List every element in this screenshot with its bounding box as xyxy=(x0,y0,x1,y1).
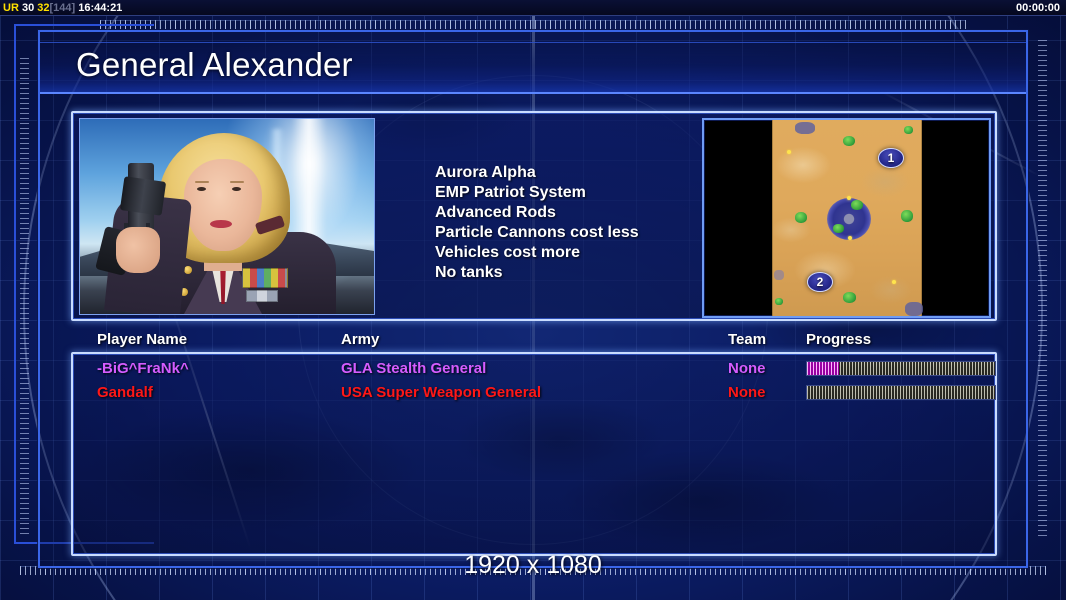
ruler-top xyxy=(100,20,966,29)
ability-item: Aurora Alpha xyxy=(435,163,639,183)
minimap-supply xyxy=(847,196,851,200)
ruler-left xyxy=(20,58,29,536)
minimap-rock xyxy=(774,270,784,280)
player-name: Gandalf xyxy=(97,384,153,401)
minimap-rock xyxy=(905,302,923,316)
game-timer: 00:00:00 xyxy=(1016,0,1060,16)
column-header-progress: Progress xyxy=(806,331,871,348)
network-value-b: 32 xyxy=(37,2,49,14)
ability-item: Particle Cannons cost less xyxy=(435,223,639,243)
minimap-vegetation xyxy=(843,136,855,146)
portrait-eye-left xyxy=(197,187,206,191)
minimap-supply xyxy=(892,280,896,284)
minimap-vegetation xyxy=(833,224,844,233)
player-name: -BiG^FraNk^ xyxy=(97,360,189,377)
pistol-slide-icon xyxy=(120,176,166,216)
column-header-player-name: Player Name xyxy=(97,331,187,348)
portrait-button-upper xyxy=(184,266,192,274)
game-screen: UR 30 32[144] 16:44:21 00:00:00 General … xyxy=(0,0,1066,600)
minimap-supply xyxy=(848,236,852,240)
minimap-vegetation xyxy=(843,292,856,303)
minimap-vegetation xyxy=(851,200,863,210)
status-bar-left: UR 30 32[144] 16:44:21 xyxy=(3,0,122,16)
portrait-hand xyxy=(116,227,160,273)
frame-line-left xyxy=(14,24,16,544)
general-ability-list: Aurora Alpha EMP Patriot System Advanced… xyxy=(435,163,639,283)
player-progress-bar xyxy=(806,361,996,376)
column-header-team: Team xyxy=(728,331,766,348)
resolution-label: 1920 x 1080 xyxy=(0,551,1066,580)
portrait-lips xyxy=(210,220,232,228)
network-bracket-value: [144] xyxy=(50,2,76,14)
system-clock: 16:44:21 xyxy=(78,2,122,14)
portrait-medal-ribbons xyxy=(242,268,288,288)
ability-item: Advanced Rods xyxy=(435,203,639,223)
status-bar: UR 30 32[144] 16:44:21 00:00:00 xyxy=(0,0,1066,16)
portrait-eye-right xyxy=(232,187,241,191)
minimap-vegetation xyxy=(904,126,913,134)
minimap-vegetation xyxy=(795,212,807,223)
minimap-rock xyxy=(795,122,815,134)
minimap-start-position-2: 2 xyxy=(807,272,833,292)
minimap-vegetation xyxy=(901,210,913,222)
player-list-panel: Player Name Army Team Progress -BiG^FraN… xyxy=(71,352,997,556)
player-list-headers: Player Name Army Team Progress xyxy=(73,331,999,354)
player-army: GLA Stealth General xyxy=(341,360,486,377)
network-label: UR xyxy=(3,2,19,14)
ability-item: Vehicles cost more xyxy=(435,243,639,263)
minimap-center-oasis xyxy=(827,198,871,240)
general-portrait xyxy=(79,118,375,315)
network-value-a: 30 xyxy=(22,2,34,14)
player-progress-bar xyxy=(806,385,996,400)
portrait-medal-badge xyxy=(246,290,278,302)
portrait-eyebrow-right xyxy=(230,181,244,183)
loading-window: General Alexander xyxy=(38,30,1028,568)
portrait-eyebrow-left xyxy=(195,181,209,183)
minimap-supply xyxy=(787,150,791,154)
player-team: None xyxy=(728,384,766,401)
progress-track xyxy=(807,386,995,399)
minimap-frame: 1 2 xyxy=(702,118,991,318)
table-row: Gandalf USA Super Weapon General None xyxy=(73,382,999,406)
ability-item: EMP Patriot System xyxy=(435,183,639,203)
player-army: USA Super Weapon General xyxy=(341,384,541,401)
title-band: General Alexander xyxy=(40,42,1026,94)
page-title: General Alexander xyxy=(76,46,353,84)
progress-fill xyxy=(807,362,839,375)
ruler-right xyxy=(1038,40,1047,540)
general-info-panel: Aurora Alpha EMP Patriot System Advanced… xyxy=(71,111,997,321)
frame-line-top xyxy=(14,24,154,26)
column-header-army: Army xyxy=(341,331,379,348)
ability-item: No tanks xyxy=(435,263,639,283)
minimap-terrain: 1 2 xyxy=(772,120,922,316)
table-row: -BiG^FraNk^ GLA Stealth General None xyxy=(73,358,999,382)
minimap-start-position-1: 1 xyxy=(878,148,904,168)
minimap-vegetation xyxy=(775,298,783,305)
player-team: None xyxy=(728,360,766,377)
